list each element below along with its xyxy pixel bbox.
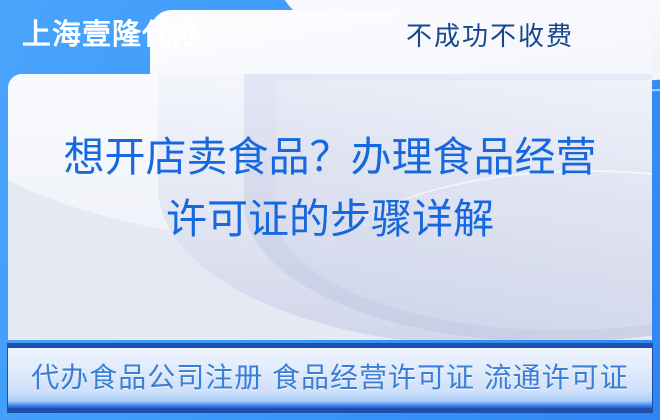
headline-line-1: 想开店卖食品？办理食品经营 xyxy=(8,126,652,188)
keyword-bar-frame: 代办食品公司注册 食品经营许可证 流通许可证 xyxy=(8,344,652,412)
brand-name: 上海壹隆代办 xyxy=(22,16,202,54)
page-title: 想开店卖食品？办理食品经营 许可证的步骤详解 xyxy=(8,126,652,250)
slogan-text: 不成功不收费 xyxy=(340,18,640,54)
promo-banner: 上海壹隆代办 不成功不收费 想开店卖食品？办理食品经营 许可证的步骤详解 代办食… xyxy=(0,0,660,420)
keyword-bar-text: 代办食品公司注册 食品经营许可证 流通许可证 xyxy=(31,360,629,396)
headline-line-2: 许可证的步骤详解 xyxy=(8,188,652,250)
keyword-bar: 代办食品公司注册 食品经营许可证 流通许可证 xyxy=(8,348,652,408)
